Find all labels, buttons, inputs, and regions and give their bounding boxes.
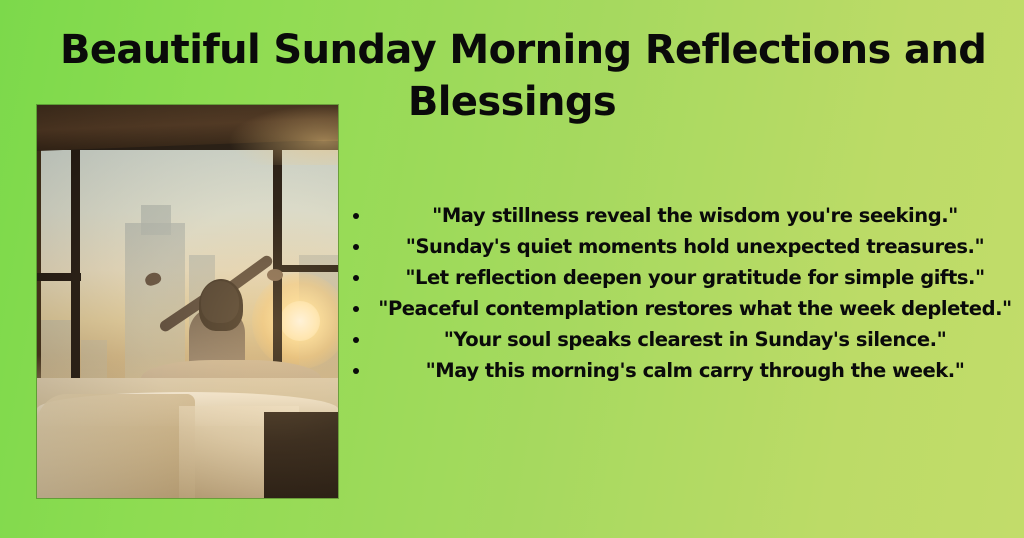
list-item: "Sunday's quiet moments hold unexpected … [346,231,1018,262]
ceiling-glow [228,105,338,165]
quote-text: "Let reflection deepen your gratitude fo… [405,266,984,289]
list-item: "Let reflection deepen your gratitude fo… [346,262,1018,293]
right-hand [267,269,283,281]
bed-fold [37,394,195,498]
bullet-icon [353,213,359,219]
photo-scene [37,105,338,498]
quote-text: "Your soul speaks clearest in Sunday's s… [444,328,947,351]
window-frame-bar [37,273,81,281]
quote-text: "Peaceful contemplation restores what th… [378,297,1012,320]
head [201,281,239,323]
bullet-icon [353,306,359,312]
bullet-icon [353,368,359,374]
list-item: "May stillness reveal the wisdom you're … [346,200,1018,231]
poster-canvas: Beautiful Sunday Morning Reflections and… [0,0,1024,538]
list-item: "Peaceful contemplation restores what th… [346,293,1018,324]
window-frame-bar [273,265,338,272]
list-item: "Your soul speaks clearest in Sunday's s… [346,324,1018,355]
quote-text: "May stillness reveal the wisdom you're … [432,204,958,227]
quotes-list: "May stillness reveal the wisdom you're … [346,200,1018,386]
bullet-icon [353,337,359,343]
list-item: "May this morning's calm carry through t… [346,355,1018,386]
quote-text: "Sunday's quiet moments hold unexpected … [406,235,984,258]
bullet-icon [353,275,359,281]
nightstand [264,412,338,498]
hero-photo [37,105,338,498]
quote-text: "May this morning's calm carry through t… [426,359,965,382]
window-frame-bar [71,141,80,402]
title-line-1: Beautiful Sunday Morning Reflections and [60,24,964,76]
bullet-icon [353,244,359,250]
sun-core [280,301,320,341]
